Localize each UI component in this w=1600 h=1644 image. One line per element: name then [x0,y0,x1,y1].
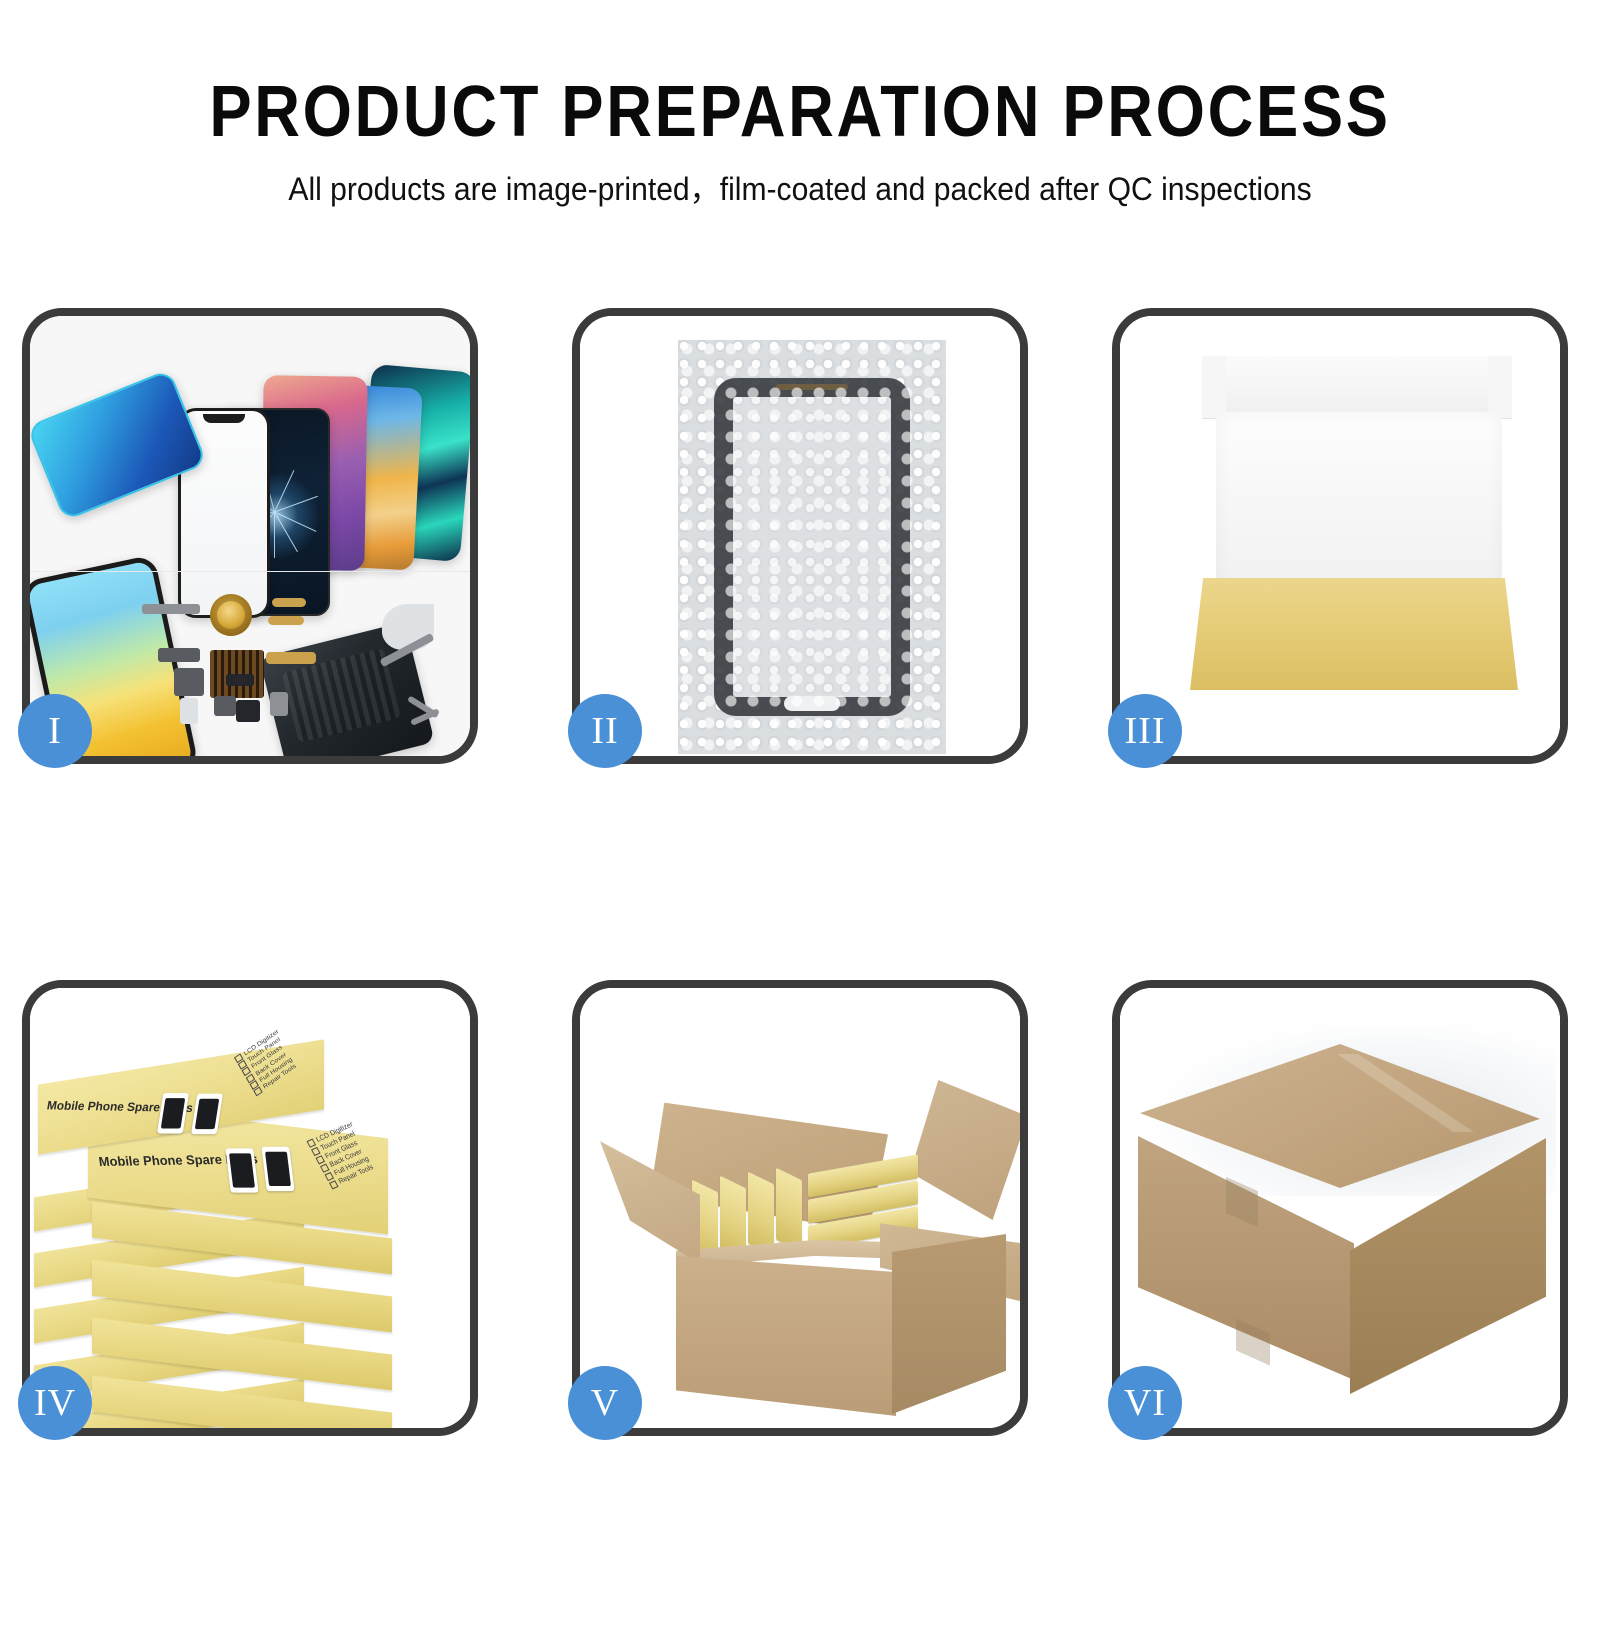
spare-part [158,648,200,662]
panel-2-image [580,316,1020,756]
panel-6-image [1120,988,1560,1428]
spare-part [226,674,254,686]
box-phone-thumbnail [225,1148,258,1192]
process-row-top: I II [0,300,1600,972]
box-phone-thumbnail [261,1147,294,1191]
panel-1-image [30,316,470,756]
spare-part [142,604,200,614]
bubble-wrapped-screen [580,316,1020,756]
panel-step-5[interactable]: V [572,980,1028,1436]
carton-side-face [892,1234,1006,1414]
spare-part [180,698,198,724]
process-row-bottom: Mobile Phone Spare Parts LCD Digitizer T… [0,972,1600,1644]
panel-badge-4: IV [18,1366,92,1440]
spare-part [214,696,236,716]
sealed-shipping-carton [1120,988,1560,1428]
panel-3-image [1120,316,1560,756]
bubble-wrap-sheet [678,340,946,754]
panel-badge-1: I [18,694,92,768]
spare-part [174,668,204,696]
carton-front-face [676,1256,896,1416]
box-lid-back [1202,356,1512,418]
open-shipping-carton [580,988,1020,1428]
spare-part [236,700,260,722]
open-retail-box [1120,316,1560,756]
spare-part [268,616,304,625]
box-checklist: LCD Digitizer Touch Panel Front Glass Ba… [306,1120,377,1190]
notch-icon [203,414,245,423]
page-header: PRODUCT PREPARATION PROCESS All products… [0,0,1600,208]
panel-step-6[interactable]: VI [1112,980,1568,1436]
box-checklist: LCD Digitizer Touch Panel Front Glass Ba… [234,1028,300,1097]
page-subtitle: All products are image-printed，film-coat… [48,148,1552,208]
box-phone-thumbnail [157,1093,189,1133]
packed-box [776,1168,802,1253]
panel-5-image [580,988,1020,1428]
process-panel-grid: I II [0,300,1600,1644]
panel-badge-6: VI [1108,1366,1182,1440]
spare-part [272,598,306,607]
phone-parts-collage [30,316,470,756]
box-lid-inner [1216,412,1502,590]
spare-part [266,652,316,664]
wireless-charge-coil [210,594,252,636]
panel-step-2[interactable]: II [572,308,1028,764]
carton-flap-right [910,1080,1020,1220]
stacked-retail-boxes: Mobile Phone Spare Parts LCD Digitizer T… [30,988,470,1428]
page-title: PRODUCT PREPARATION PROCESS [96,0,1504,148]
panel-4-image: Mobile Phone Spare Parts LCD Digitizer T… [30,988,470,1428]
box-kraft-tray [1190,578,1518,690]
bubble-highlights [678,340,946,754]
panel-badge-5: V [568,1366,642,1440]
spare-part [270,692,288,716]
panel-step-1[interactable]: I [22,308,478,764]
panel-badge-3: III [1108,694,1182,768]
panel-badge-2: II [568,694,642,768]
panel-step-3[interactable]: III [1112,308,1568,764]
panel-step-4[interactable]: Mobile Phone Spare Parts LCD Digitizer T… [22,980,478,1436]
